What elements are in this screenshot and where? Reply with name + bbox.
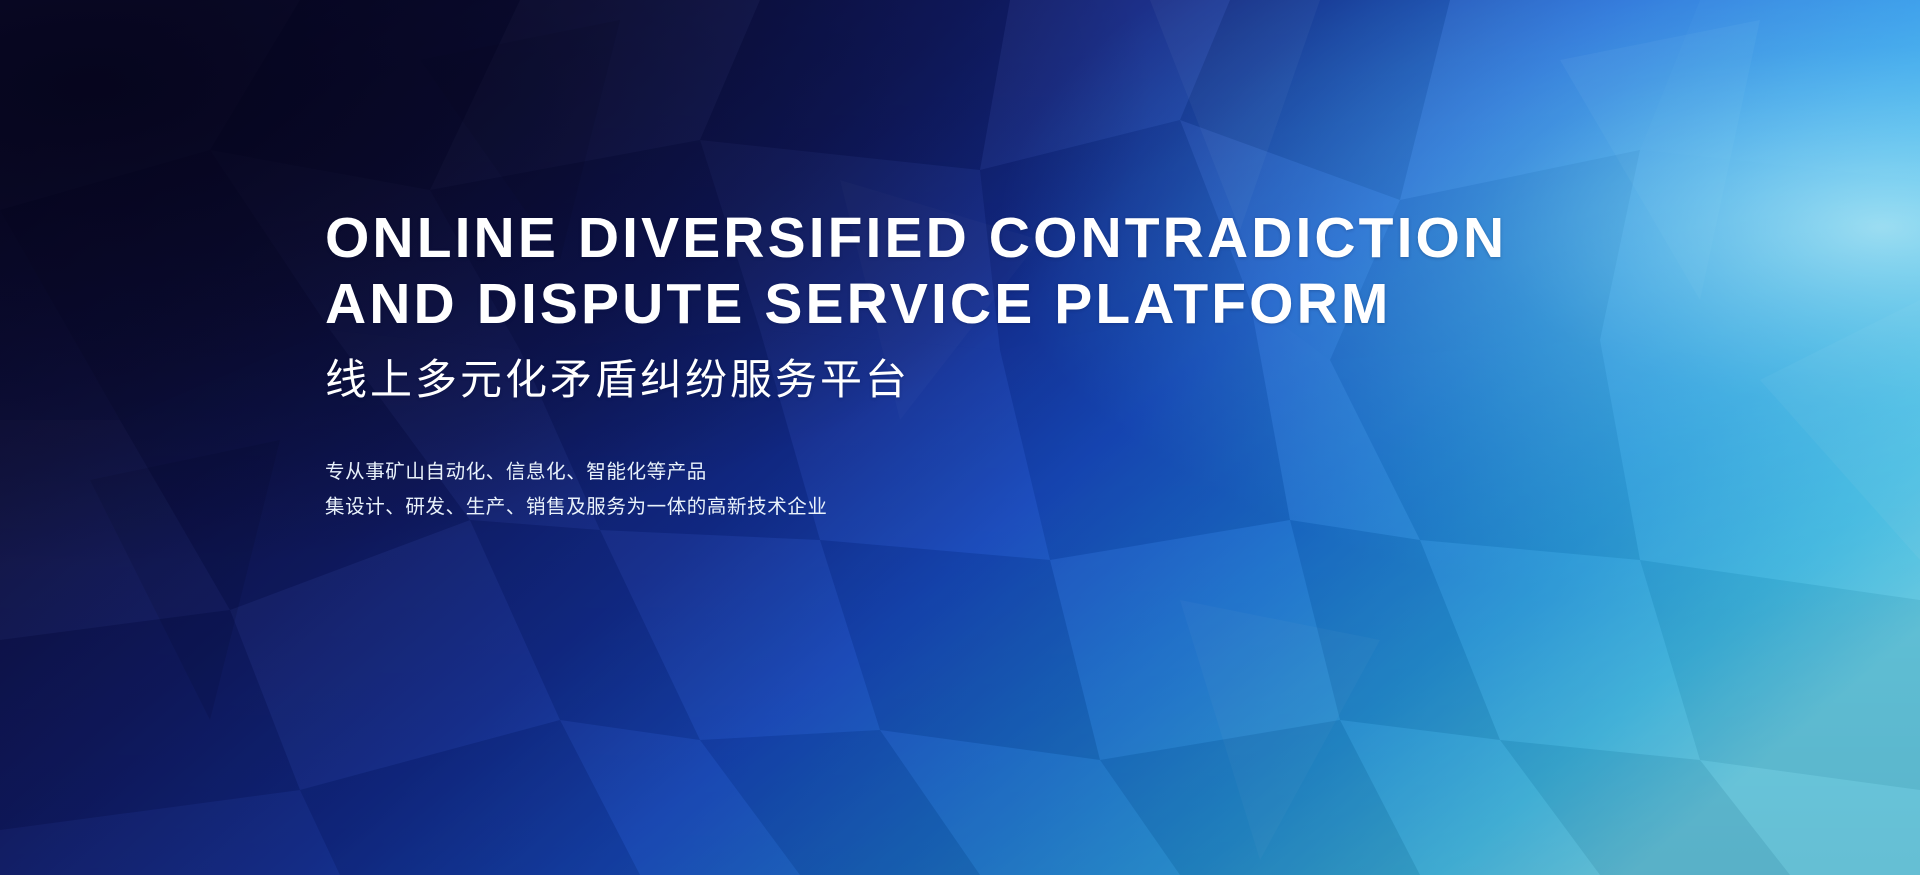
description-line-2: 集设计、研发、生产、销售及服务为一体的高新技术企业 <box>325 490 1625 525</box>
hero-banner: ONLINE DIVERSIFIED CONTRADICTION AND DIS… <box>0 0 1920 875</box>
page-subtitle: 线上多元化矛盾纠纷服务平台 <box>325 355 1625 405</box>
description-block: 专从事矿山自动化、信息化、智能化等产品 集设计、研发、生产、销售及服务为一体的高… <box>325 455 1625 525</box>
description-line-1: 专从事矿山自动化、信息化、智能化等产品 <box>325 455 1625 490</box>
page-title: ONLINE DIVERSIFIED CONTRADICTION AND DIS… <box>325 205 1625 337</box>
hero-content: ONLINE DIVERSIFIED CONTRADICTION AND DIS… <box>325 205 1625 525</box>
